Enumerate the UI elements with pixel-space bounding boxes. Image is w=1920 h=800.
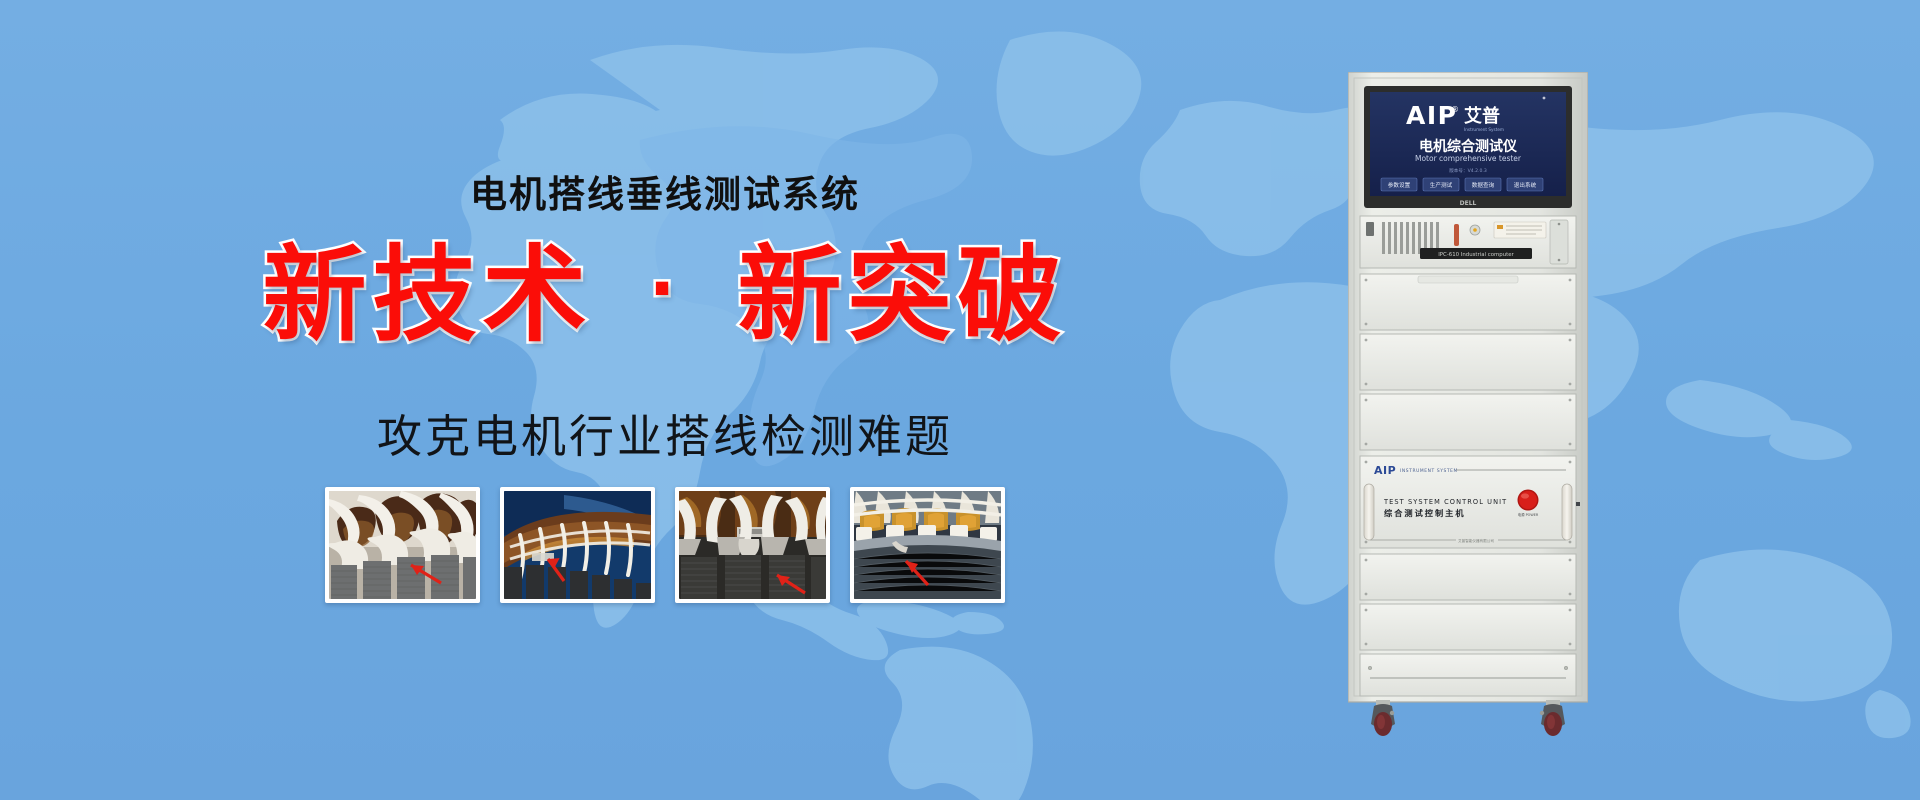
- monitor-unit: AIP ® 艾普 Instrument System 电机综合测试仪 Motor…: [1364, 86, 1572, 208]
- thumbnail-slot-wedge-closeup[interactable]: [675, 487, 830, 603]
- pc-unit-label: IPC-610 Industrial computer: [1438, 252, 1514, 258]
- control-unit-brand: AIP: [1374, 464, 1396, 477]
- blank-panel-group-upper: [1360, 274, 1576, 450]
- caster-right: [1540, 700, 1565, 736]
- screen-button-label-1: 生产测试: [1430, 181, 1453, 189]
- promo-banner: 电机搭线垂线测试系统 新技术 · 新突破 攻克电机行业搭线检测难题: [0, 0, 1920, 800]
- screen-button-label-0: 参数设置: [1388, 181, 1411, 189]
- power-button-label: 电源 POWER: [1518, 512, 1539, 517]
- page-title: 新技术 · 新突破: [0, 237, 1330, 353]
- aip-logo-on-screen: AIP ® 艾普 Instrument System: [1406, 101, 1504, 132]
- thumbnail-stator-coil-slots[interactable]: [325, 487, 480, 603]
- power-button[interactable]: [1519, 491, 1537, 509]
- screen-button-label-2: 数据查询: [1472, 181, 1495, 189]
- control-unit-label-cn: 综合测试控制主机: [1384, 508, 1466, 518]
- control-unit-footer-note: 艾普智能仪器有限公司: [1458, 538, 1494, 543]
- thumbnail-stator-ring[interactable]: [850, 487, 1005, 603]
- headline-separator-dot: ·: [649, 248, 682, 330]
- screen-button-1[interactable]: 生产测试: [1423, 178, 1459, 191]
- screen-brand-sub: Instrument System: [1464, 127, 1504, 132]
- screen-button-0[interactable]: 参数设置: [1381, 178, 1417, 191]
- screen-version-line: 版本号：V4.2.0.3: [1449, 167, 1487, 174]
- thumbnail-image-1: [329, 491, 476, 599]
- screen-brand-cn: 艾普: [1464, 105, 1500, 127]
- screen-brand-aip: AIP: [1406, 101, 1457, 130]
- screen-brand-superscript: ®: [1451, 105, 1459, 114]
- thumbnail-stator-lacing[interactable]: [500, 487, 655, 603]
- headline-block: 电机搭线垂线测试系统 新技术 · 新突破 攻克电机行业搭线检测难题: [0, 0, 1330, 800]
- monitor-brand-label: DELL: [1460, 200, 1477, 207]
- headline-right-text: 新突破: [738, 234, 1068, 356]
- thumbnail-strip: [0, 487, 1330, 603]
- blank-panel-group-lower: [1360, 554, 1576, 696]
- thumbnail-image-4: [854, 491, 1001, 599]
- control-unit-label-en: TEST SYSTEM CONTROL UNIT: [1383, 498, 1507, 506]
- headline-left-text: 新技术: [262, 234, 592, 356]
- screen-button-label-3: 退出系统: [1514, 181, 1537, 189]
- control-unit-handle-left[interactable]: [1364, 484, 1374, 540]
- caster-wheels: [1371, 700, 1565, 736]
- screen-indicator-dot: [1543, 97, 1546, 100]
- screen-title-en: Motor comprehensive tester: [1415, 154, 1522, 163]
- control-unit-brand-sub: INSTRUMENT SYSTEM: [1400, 468, 1458, 474]
- eyebrow-title: 电机搭线垂线测试系统: [0, 164, 1330, 218]
- test-equipment-cabinet: AIP ® 艾普 Instrument System 电机综合测试仪 Motor…: [1348, 72, 1588, 744]
- industrial-pc-unit: IPC-610 Industrial computer: [1360, 216, 1576, 268]
- screen-title-cn: 电机综合测试仪: [1419, 138, 1518, 155]
- caster-left: [1371, 700, 1395, 736]
- control-unit-handle-right[interactable]: [1562, 484, 1572, 540]
- tagline: 攻克电机行业搭线检测难题: [0, 400, 1330, 465]
- screen-button-3[interactable]: 退出系统: [1507, 178, 1543, 191]
- screen-button-2[interactable]: 数据查询: [1465, 178, 1501, 191]
- thumbnail-image-2: [504, 491, 651, 599]
- test-system-control-unit: AIP INSTRUMENT SYSTEM TEST SYSTEM CONTRO…: [1360, 456, 1580, 548]
- thumbnail-image-3: [679, 491, 826, 599]
